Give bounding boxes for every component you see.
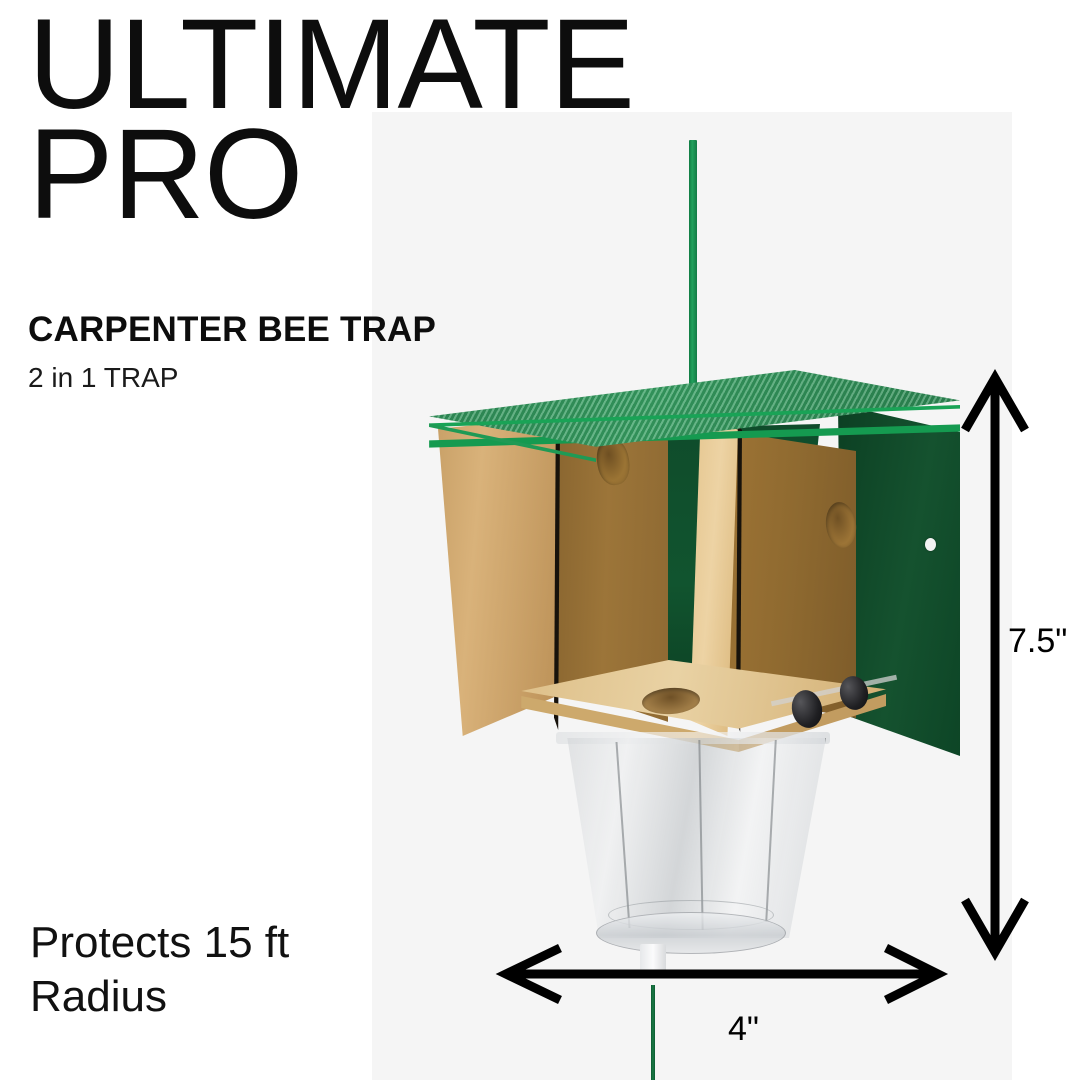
claim-line-1: Protects 15 ft: [30, 916, 289, 970]
height-dimension-label: 7.5": [1008, 622, 1067, 661]
claim-line-2: Radius: [30, 970, 289, 1024]
protection-claim: Protects 15 ft Radius: [30, 916, 289, 1023]
brand-line-pro: PRO: [28, 120, 848, 230]
product-image-canvas: ULTIMATE PRO CARPENTER BEE TRAP 2 in 1 T…: [0, 0, 1080, 1080]
product-name: CARPENTER BEE TRAP: [28, 310, 436, 350]
brand-headline: ULTIMATE PRO: [28, 10, 848, 230]
product-tagline: 2 in 1 TRAP: [28, 362, 178, 394]
background-panel: [372, 112, 1012, 1080]
